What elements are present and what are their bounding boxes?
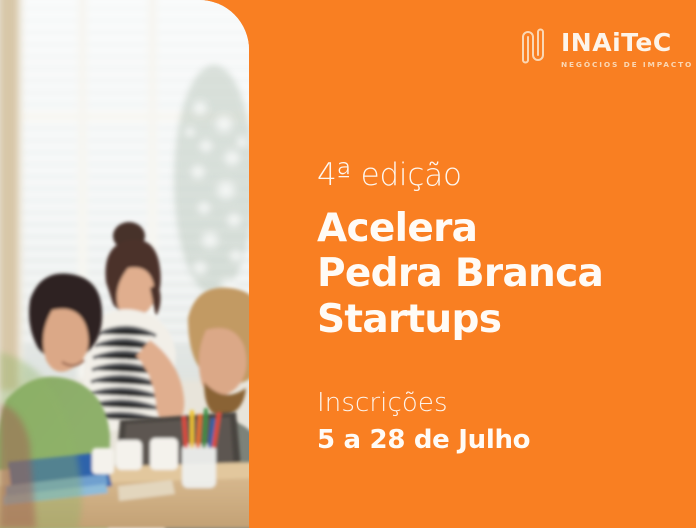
headline-line-1: Acelera: [317, 206, 677, 252]
headline-line-3: Startups: [317, 297, 677, 343]
team-photo-illustration: [0, 0, 249, 528]
inaitec-n-monogram-icon: [519, 28, 552, 64]
signup-dates: 5 a 28 de Julho: [317, 426, 677, 456]
poster-content: 4ª edição Acelera Pedra Branca Startups …: [317, 158, 677, 456]
page-title: Acelera Pedra Branca Startups: [317, 206, 677, 343]
promotional-poster: INAiTeC NEGÓCIOS DE IMPACTO 4ª edição Ac…: [0, 0, 696, 528]
logo-text: INAiTeC NEGÓCIOS DE IMPACTO: [561, 28, 693, 68]
logo-tagline: NEGÓCIOS DE IMPACTO: [561, 61, 693, 68]
edition-label: 4ª edição: [317, 158, 677, 193]
logo-wordmark: INAiTeC: [561, 30, 693, 55]
signup-block: Inscrições 5 a 28 de Julho: [317, 389, 677, 457]
headline-line-2: Pedra Branca: [317, 251, 677, 297]
inaitec-logo[interactable]: INAiTeC NEGÓCIOS DE IMPACTO: [519, 28, 693, 68]
team-photo: [0, 0, 249, 528]
signup-label: Inscrições: [317, 389, 677, 419]
